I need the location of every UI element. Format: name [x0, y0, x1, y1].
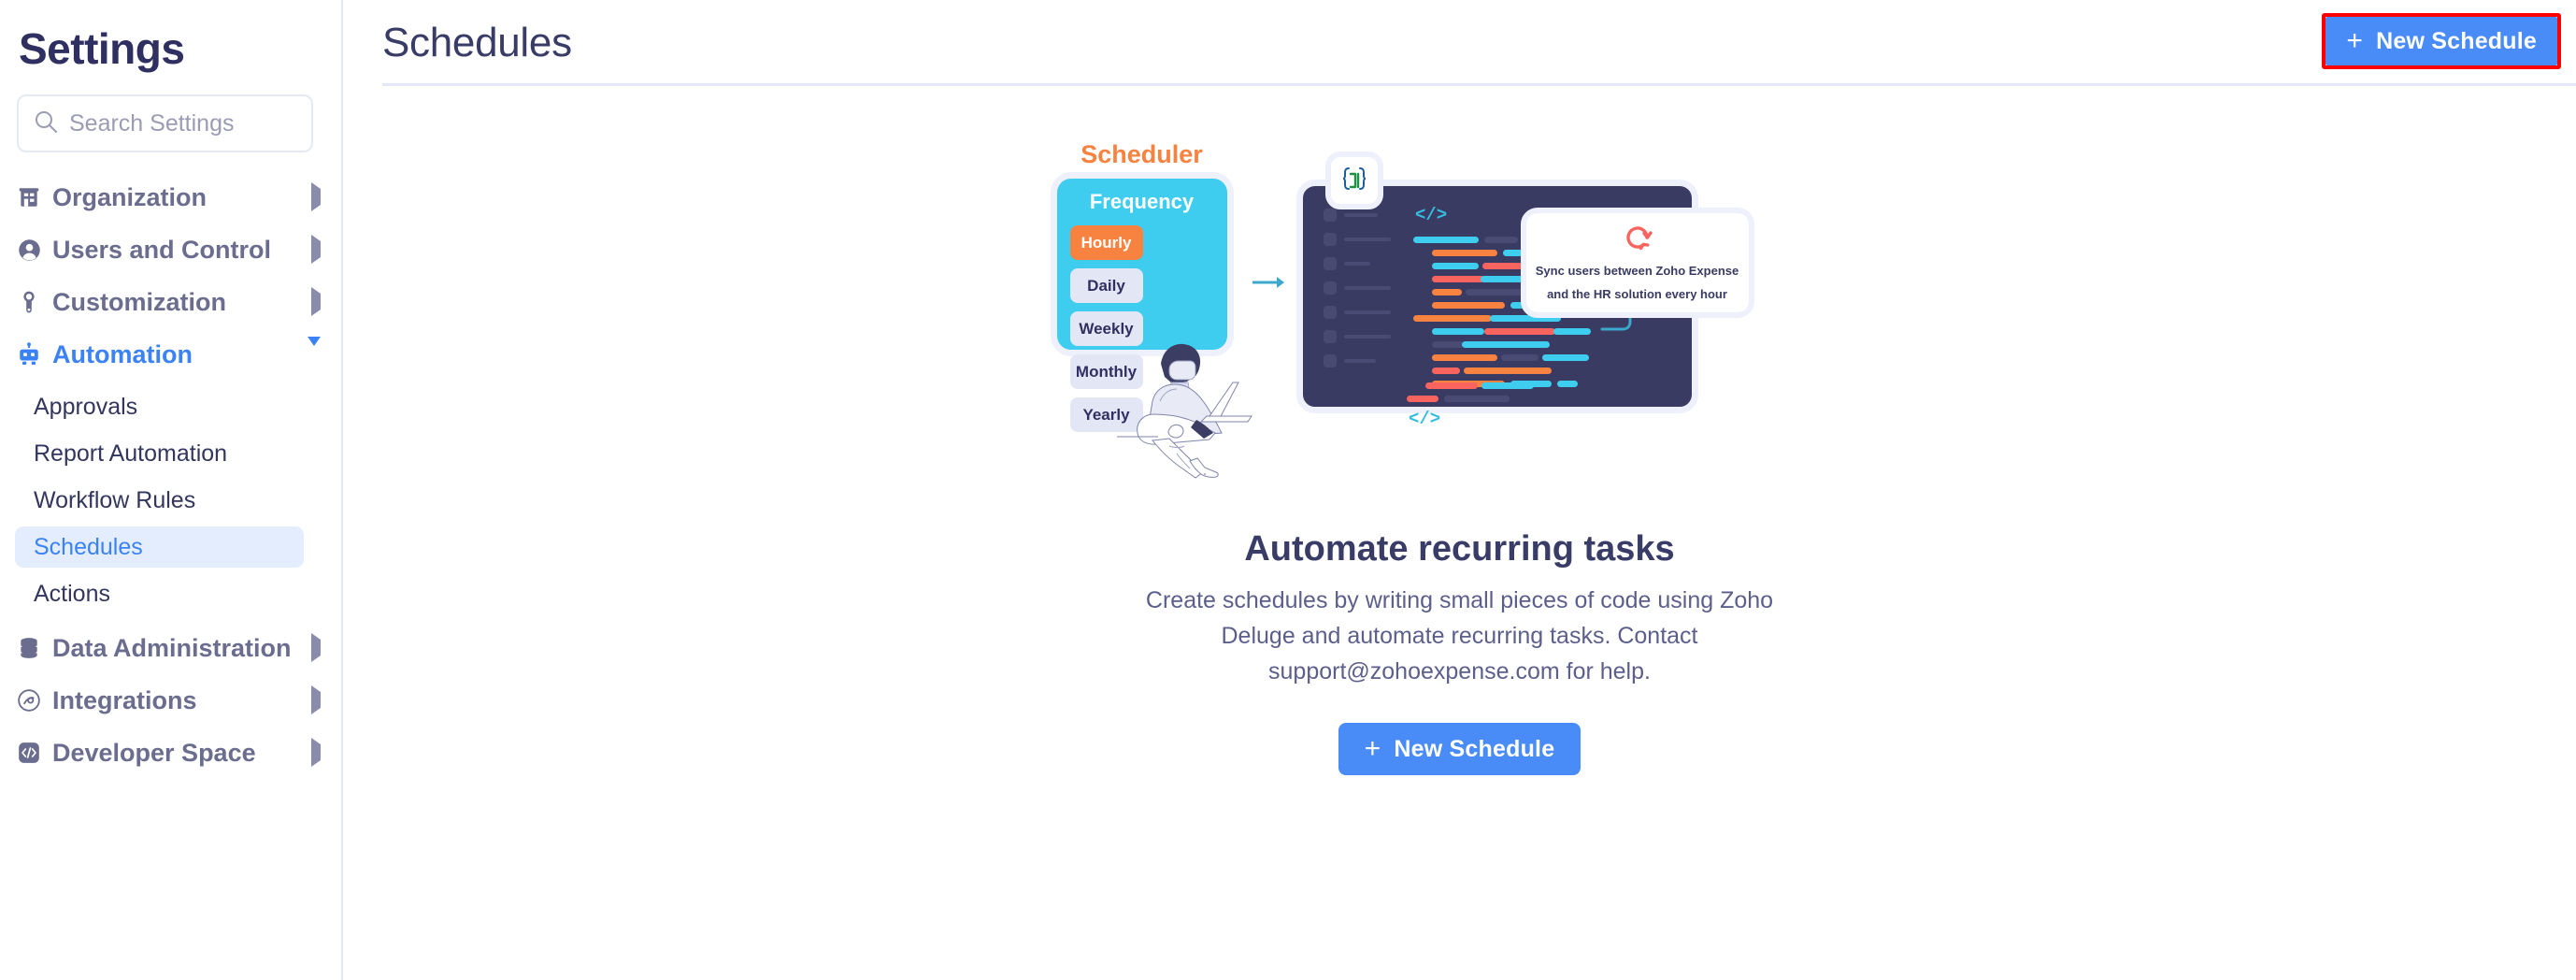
subnav-item-actions[interactable]: Actions [15, 573, 304, 614]
search-settings-box[interactable] [17, 94, 313, 152]
sidebar-item-label: Data Administration [52, 634, 292, 663]
chevron-down-icon [308, 346, 321, 363]
sidebar-item-label: Users and Control [52, 236, 271, 265]
chevron-right-icon [311, 241, 321, 258]
sidebar-item-label: Developer Space [52, 739, 256, 768]
user-circle-icon [17, 238, 49, 263]
subnav-item-label: Approvals [34, 394, 137, 421]
schedules-illustration: Scheduler Frequency Hourly Daily Weekly … [1039, 114, 1881, 535]
svg-text:</>: </> [1415, 205, 1447, 225]
search-settings-wrapper [0, 74, 341, 152]
sidebar-item-users-and-control[interactable]: Users and Control [0, 223, 341, 276]
new-schedule-button-cta[interactable]: + New Schedule [1338, 723, 1581, 775]
sidebar-item-organization[interactable]: Organization [0, 171, 341, 223]
new-schedule-highlight-box: + New Schedule [2322, 13, 2561, 69]
chevron-right-icon [311, 692, 321, 709]
sidebar-item-developer-space[interactable]: Developer Space [0, 727, 341, 779]
sidebar-item-label: Automation [52, 340, 193, 369]
search-icon [34, 109, 58, 138]
building-icon [17, 185, 49, 209]
sync-callout-card: Sync users between Zoho Expense and the … [1521, 208, 1754, 318]
sidebar-nav: Organization Users and Control Customiza… [0, 171, 341, 779]
header-divider [382, 83, 2576, 86]
page-header: Schedules + New Schedule [343, 0, 2576, 86]
subnav-item-workflow-rules[interactable]: Workflow Rules [15, 480, 304, 521]
illustration-frequency-title: Frequency [1070, 190, 1214, 214]
chevron-right-icon [311, 744, 321, 761]
empty-state-description: Create schedules by writing small pieces… [1133, 583, 1787, 689]
sidebar-item-customization[interactable]: Customization [0, 276, 341, 328]
plus-icon: + [1365, 735, 1381, 763]
new-schedule-button-header[interactable]: + New Schedule [2326, 17, 2557, 65]
code-panel-footer: </> [1296, 381, 1698, 427]
illustration-scheduler-label: Scheduler [1049, 140, 1236, 169]
database-icon [17, 636, 49, 660]
sync-callout-line1: Sync users between Zoho Expense [1536, 262, 1739, 281]
plus-icon: + [2346, 27, 2363, 55]
sidebar-item-label: Integrations [52, 686, 197, 715]
empty-state-cta-wrapper: + New Schedule [1338, 723, 1581, 775]
subnav-item-label: Actions [34, 581, 110, 608]
sync-refresh-icon [1622, 222, 1653, 258]
person-with-laptop-illustration [1091, 315, 1296, 483]
sidebar-item-label: Customization [52, 288, 226, 317]
integrations-icon [17, 688, 49, 713]
subnav-item-label: Workflow Rules [34, 487, 195, 514]
frequency-chip-hourly: Hourly [1070, 225, 1143, 260]
chevron-right-icon [311, 189, 321, 206]
empty-state-heading: Automate recurring tasks [1244, 529, 1674, 569]
sidebar-item-label: Organization [52, 183, 207, 212]
subnav-item-label: Schedules [34, 534, 143, 561]
sync-callout-line2: and the HR solution every hour [1547, 285, 1727, 304]
code-brackets-icon [17, 741, 49, 765]
sidebar-item-integrations[interactable]: Integrations [0, 674, 341, 727]
page-title: Schedules [343, 20, 572, 66]
sidebar-item-automation[interactable]: Automation [0, 328, 341, 381]
search-input[interactable] [69, 110, 370, 137]
automation-subnav: Approvals Report Automation Workflow Rul… [0, 386, 341, 614]
subnav-item-approvals[interactable]: Approvals [15, 386, 304, 427]
new-schedule-button-label: New Schedule [2376, 28, 2537, 55]
sidebar-item-data-administration[interactable]: Data Administration [0, 622, 341, 674]
frequency-chip-daily: Daily [1070, 268, 1143, 303]
new-schedule-cta-label: New Schedule [1394, 736, 1554, 763]
chevron-right-icon [311, 640, 321, 656]
svg-text:</>: </> [1409, 409, 1440, 427]
deluge-brace-icon [1325, 151, 1383, 209]
empty-state: Scheduler Frequency Hourly Daily Weekly … [343, 86, 2576, 775]
arrow-right-icon [1252, 275, 1284, 295]
sidebar-title: Settings [0, 0, 341, 74]
settings-sidebar: Settings Organization [0, 0, 343, 980]
subnav-item-report-automation[interactable]: Report Automation [15, 433, 304, 474]
main-content: Schedules + New Schedule Scheduler Frequ… [343, 0, 2576, 980]
subnav-item-schedules[interactable]: Schedules [15, 526, 304, 568]
robot-icon [17, 342, 49, 367]
subnav-item-label: Report Automation [34, 440, 227, 468]
chevron-right-icon [311, 294, 321, 310]
settings-page: Settings Organization [0, 0, 2576, 980]
wrench-icon [17, 290, 49, 314]
